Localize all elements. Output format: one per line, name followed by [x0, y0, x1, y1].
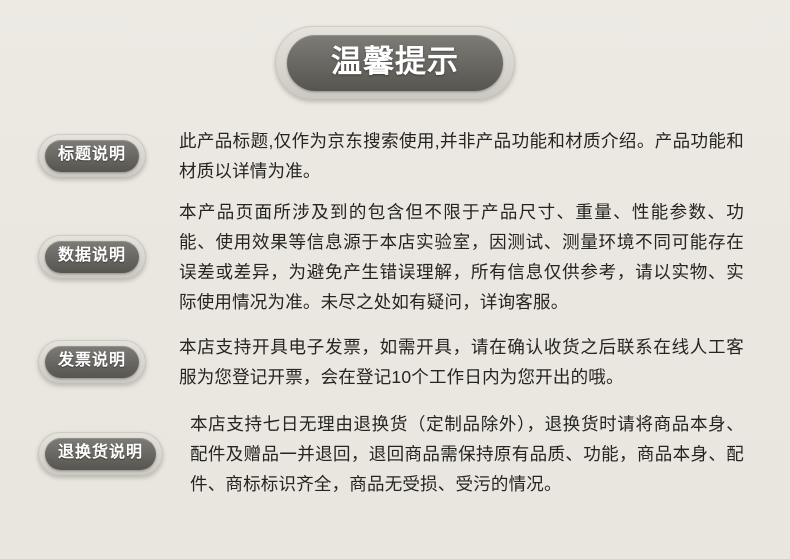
label-pill: 发票说明 — [38, 340, 146, 384]
label-pill: 标题说明 — [38, 134, 146, 178]
label-return-exchange-description: 退换货说明 — [38, 432, 190, 476]
section-title-description: 标题说明 此产品标题,仅作为京东搜索使用,并非产品功能和材质介绍。产品功能和材质… — [0, 120, 790, 192]
label-text: 数据说明 — [45, 241, 139, 273]
label-pill: 退换货说明 — [38, 432, 163, 476]
body-data-description: 本产品页面所涉及到的包含但不限于产品尺寸、重量、性能参数、功能、使用效果等信息源… — [179, 197, 790, 317]
header-pill: 温馨提示 — [275, 26, 515, 100]
body-return-exchange-description: 本店支持七日无理由退换货（定制品除外），退换货时请将商品本身、配件及赠品一并退回… — [190, 409, 790, 499]
label-invoice-description: 发票说明 — [38, 340, 179, 384]
section-data-description: 数据说明 本产品页面所涉及到的包含但不限于产品尺寸、重量、性能参数、功能、使用效… — [0, 192, 790, 322]
header: 温馨提示 — [0, 26, 790, 100]
section-return-exchange-description: 退换货说明 本店支持七日无理由退换货（定制品除外），退换货时请将商品本身、配件及… — [0, 402, 790, 506]
label-title-description: 标题说明 — [38, 134, 179, 178]
label-pill: 数据说明 — [38, 235, 146, 279]
body-invoice-description: 本店支持开具电子发票，如需开具，请在确认收货之后联系在线人工客服为您登记开票，会… — [179, 332, 790, 392]
section-invoice-description: 发票说明 本店支持开具电子发票，如需开具，请在确认收货之后联系在线人工客服为您登… — [0, 322, 790, 402]
body-title-description: 此产品标题,仅作为京东搜索使用,并非产品功能和材质介绍。产品功能和材质以详情为准… — [179, 126, 790, 186]
page-title: 温馨提示 — [287, 35, 503, 91]
label-text: 发票说明 — [45, 346, 139, 378]
label-text: 标题说明 — [45, 140, 139, 172]
label-data-description: 数据说明 — [38, 235, 179, 279]
notice-sections: 标题说明 此产品标题,仅作为京东搜索使用,并非产品功能和材质介绍。产品功能和材质… — [0, 120, 790, 506]
label-text: 退换货说明 — [45, 438, 156, 470]
